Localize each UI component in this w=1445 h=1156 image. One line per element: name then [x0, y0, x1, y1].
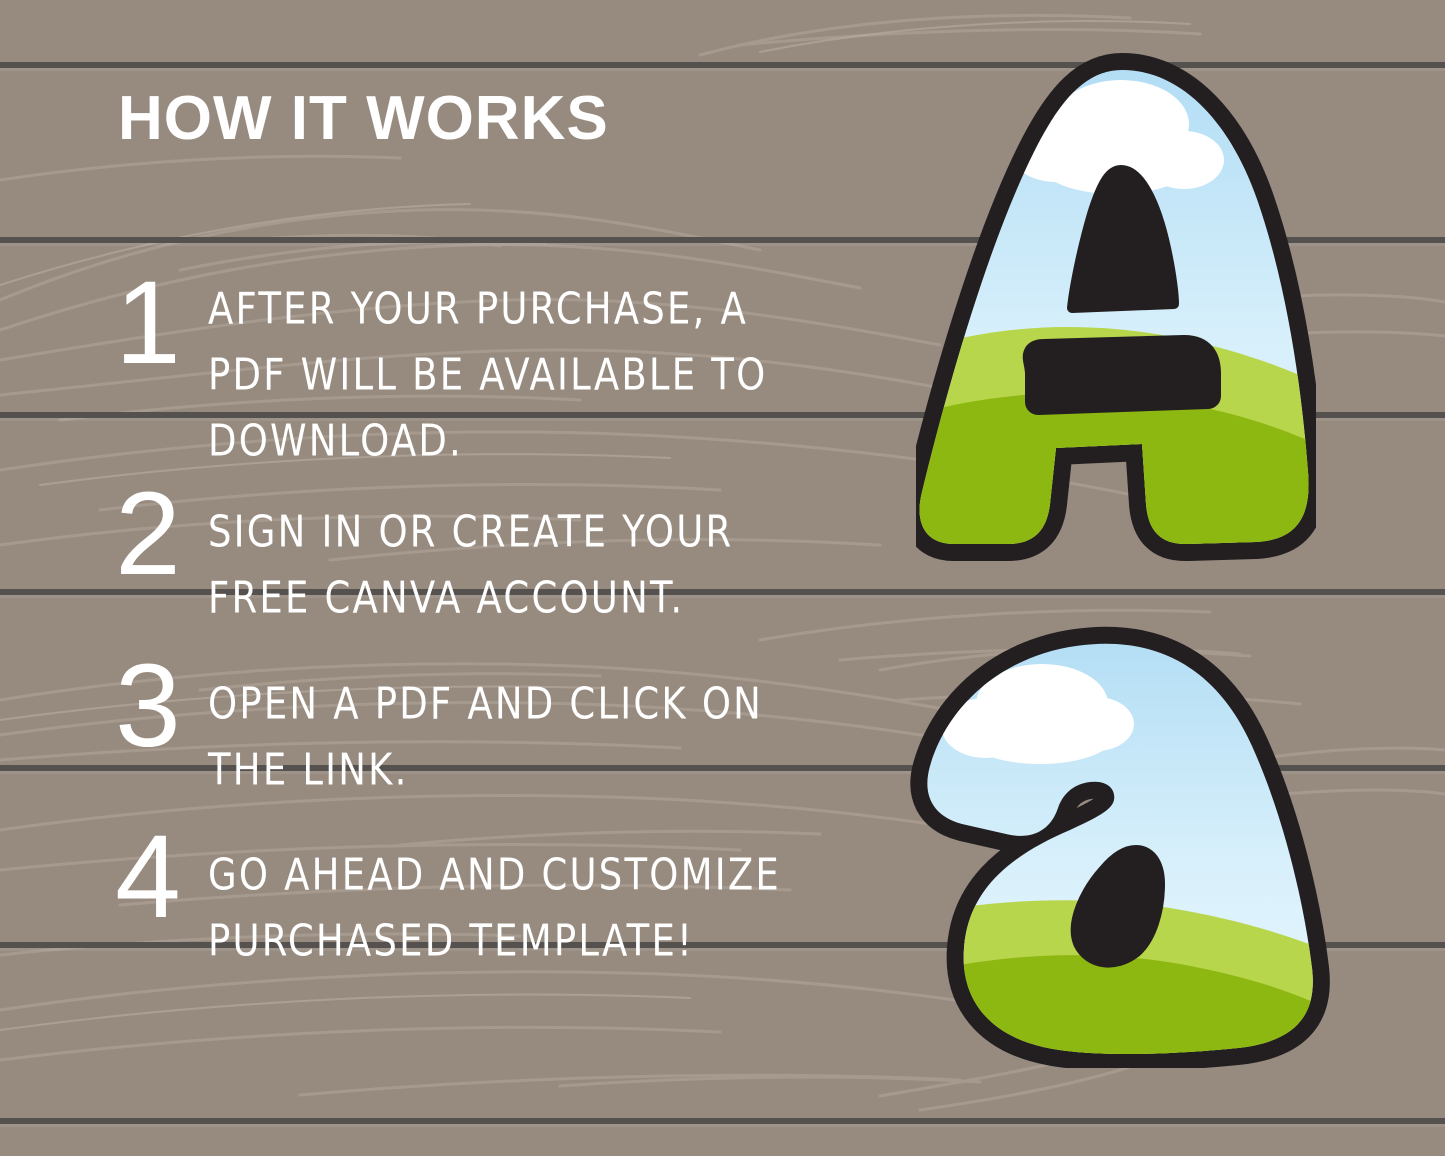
- step-text: OPEN A PDF AND CLICK ON THE LINK.: [208, 650, 788, 804]
- step-text: AFTER YOUR PURCHASE, A PDF WILL BE AVAIL…: [208, 255, 788, 475]
- content-column: HOW IT WORKS 1 AFTER YOUR PURCHASE, A PD…: [0, 0, 880, 1156]
- letter-a-illustration: [900, 618, 1330, 1068]
- step-number: 3: [88, 652, 208, 761]
- list-item: 2 SIGN IN OR CREATE YOUR FREE CANVA ACCO…: [0, 478, 880, 608]
- step-number: 1: [88, 269, 208, 378]
- list-item: 1 AFTER YOUR PURCHASE, A PDF WILL BE AVA…: [0, 255, 880, 442]
- step-number: 2: [88, 480, 208, 589]
- page-title: HOW IT WORKS: [118, 88, 609, 150]
- steps-list: 1 AFTER YOUR PURCHASE, A PDF WILL BE AVA…: [0, 255, 880, 973]
- letter-A-crossbar: [1036, 348, 1208, 402]
- list-item: 4 GO AHEAD AND CUSTOMIZE PURCHASED TEMPL…: [0, 821, 880, 951]
- step-text: SIGN IN OR CREATE YOUR FREE CANVA ACCOUN…: [208, 478, 788, 632]
- step-text: GO AHEAD AND CUSTOMIZE PURCHASED TEMPLAT…: [208, 821, 788, 975]
- how-it-works-slide: HOW IT WORKS 1 AFTER YOUR PURCHASE, A PD…: [0, 0, 1445, 1156]
- list-item: 3 OPEN A PDF AND CLICK ON THE LINK.: [0, 650, 880, 780]
- step-number: 4: [88, 823, 208, 932]
- letter-A-illustration: [916, 52, 1316, 562]
